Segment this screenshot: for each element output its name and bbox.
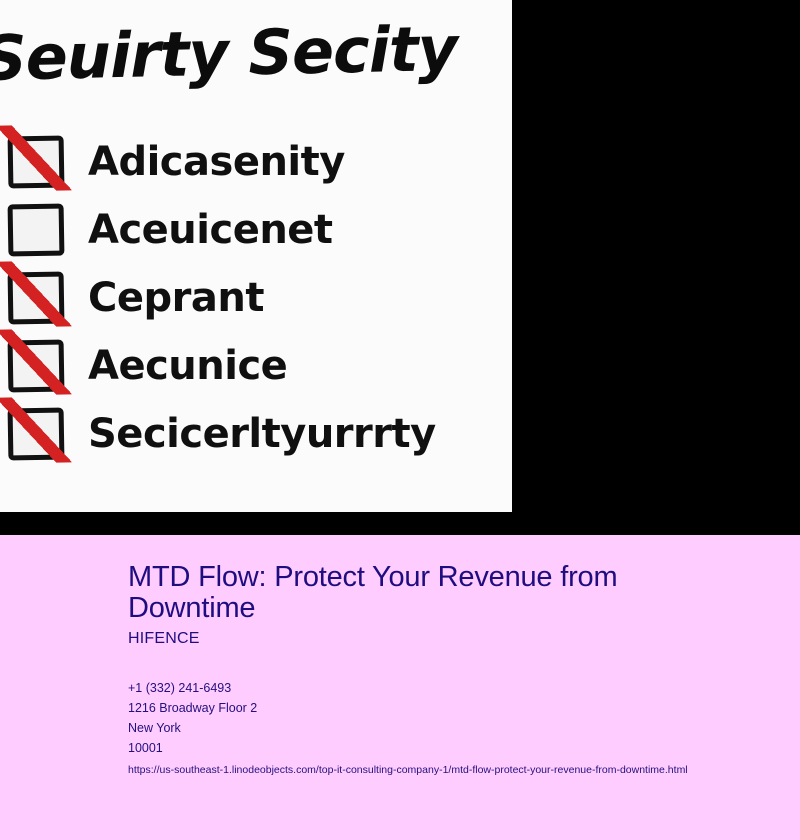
checkbox-icon: [8, 340, 65, 393]
checklist-item: Ceprant: [0, 264, 512, 332]
contact-phone[interactable]: +1 (332) 241-6493: [128, 678, 748, 698]
hero-image: Seuirty Secity Adicasenity Aceuicenet Ce…: [0, 0, 512, 512]
checklist-item-label: Aecunice: [88, 346, 287, 386]
checklist-item: Secicerltyurrrty: [0, 400, 512, 468]
checklist-item-label: Aceuicenet: [88, 210, 333, 250]
checkbox-icon: [8, 408, 65, 461]
whiteboard-headline: Seuirty Secity: [0, 16, 512, 90]
checkbox-icon: [8, 136, 65, 189]
page-title: MTD Flow: Protect Your Revenue from Down…: [128, 562, 728, 624]
checklist-item: Adicasenity: [0, 128, 512, 196]
contact-postal-code: 10001: [128, 738, 748, 758]
checklist-item-label: Adicasenity: [88, 142, 345, 182]
whiteboard-checklist: Adicasenity Aceuicenet Ceprant Aecunice …: [0, 128, 512, 468]
checkbox-icon: [8, 204, 65, 257]
contact-city: New York: [128, 718, 748, 738]
checklist-item-label: Ceprant: [88, 278, 264, 318]
hero-banner: Seuirty Secity Adicasenity Aceuicenet Ce…: [0, 0, 800, 535]
checklist-item: Aecunice: [0, 332, 512, 400]
article-content: MTD Flow: Protect Your Revenue from Down…: [0, 535, 800, 840]
contact-street: 1216 Broadway Floor 2: [128, 698, 748, 718]
checkbox-icon: [8, 272, 65, 325]
source-url-link[interactable]: https://us-southeast-1.linodeobjects.com…: [128, 763, 688, 777]
contact-block: +1 (332) 241-6493 1216 Broadway Floor 2 …: [128, 678, 748, 758]
checklist-item-label: Secicerltyurrrty: [88, 414, 436, 454]
brand-name: HIFENCE: [128, 630, 200, 648]
checklist-item: Aceuicenet: [0, 196, 512, 264]
